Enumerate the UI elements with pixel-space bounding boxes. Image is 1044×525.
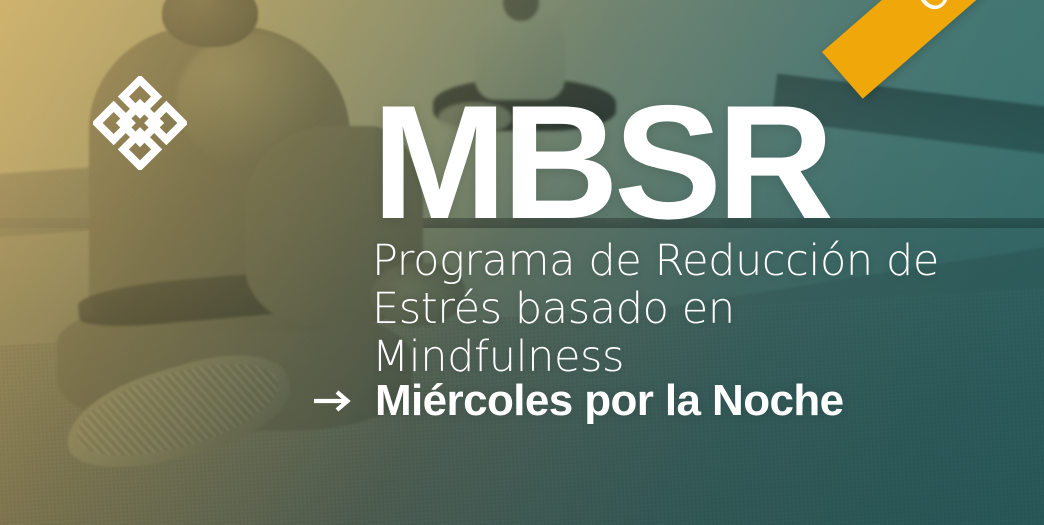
schedule-text: Miércoles por la Noche	[375, 376, 844, 426]
subtitle-line-1: Programa de Reducción de	[372, 237, 972, 285]
arrow-right-icon	[313, 389, 355, 413]
schedule-line: Miércoles por la Noche	[313, 376, 844, 426]
page-title: MBSR	[372, 98, 972, 228]
headline-block: MBSR Programa de Reducción de Estrés bas…	[372, 98, 972, 381]
endless-knot-icon	[93, 76, 187, 170]
subtitle-line-2: Estrés basado en Mindfulness	[372, 285, 972, 381]
subtitle: Programa de Reducción de Estrés basado e…	[372, 237, 972, 381]
mbsr-promo-banner: MBSR Programa de Reducción de Estrés bas…	[0, 0, 1044, 525]
